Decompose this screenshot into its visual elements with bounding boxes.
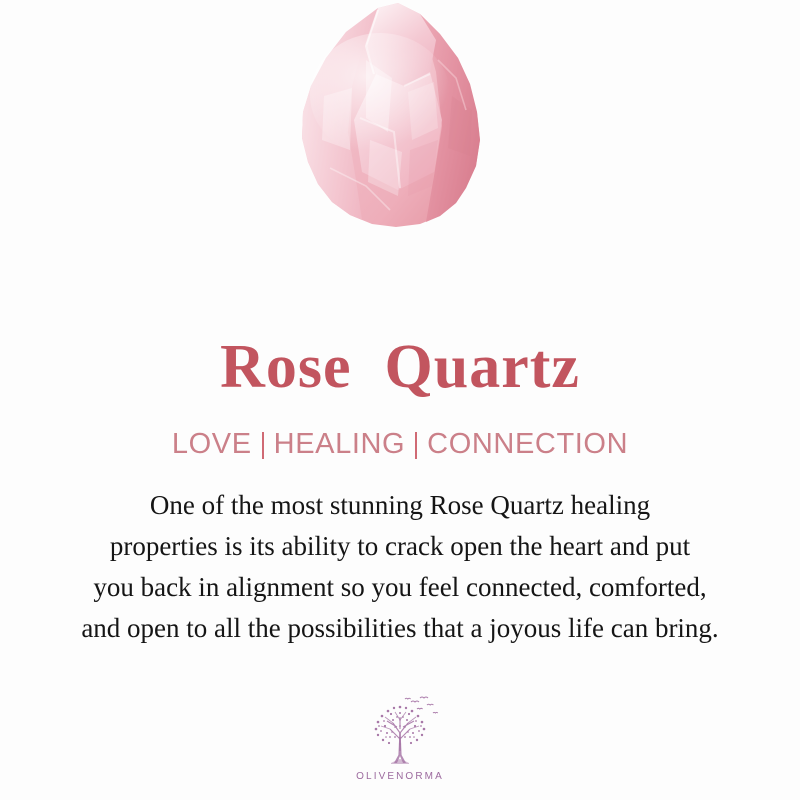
rose-quartz-crystal-image (270, 0, 530, 250)
keywords-subtitle: LOVE HEALING CONNECTION (163, 428, 637, 461)
description-line: and open to all the possibilities that a… (20, 608, 780, 649)
crystal-image-container (0, 0, 800, 300)
page-title: Rose Quartz (220, 336, 580, 398)
keyword-connection: CONNECTION (418, 428, 637, 461)
crystal-glow (310, 33, 450, 157)
keyword-separator-icon (262, 432, 264, 459)
birds-icon (405, 697, 438, 713)
rose-quartz-info-card: Rose Quartz LOVE HEALING CONNECTION One … (0, 0, 800, 800)
brand-wordmark: OLIVENORMA (356, 771, 444, 782)
keyword-separator-icon (415, 432, 417, 459)
keyword-love: LOVE (163, 428, 261, 461)
description-line: properties is its ability to crack open … (20, 526, 780, 567)
description-line: One of the most stunning Rose Quartz hea… (20, 485, 780, 526)
brand-logo: OLIVENORMA (0, 693, 800, 782)
description-paragraph: One of the most stunning Rose Quartz hea… (20, 485, 780, 649)
tree-of-life-icon (357, 693, 443, 769)
keyword-healing: HEALING (265, 428, 415, 461)
description-line: you back in alignment so you feel connec… (20, 567, 780, 608)
